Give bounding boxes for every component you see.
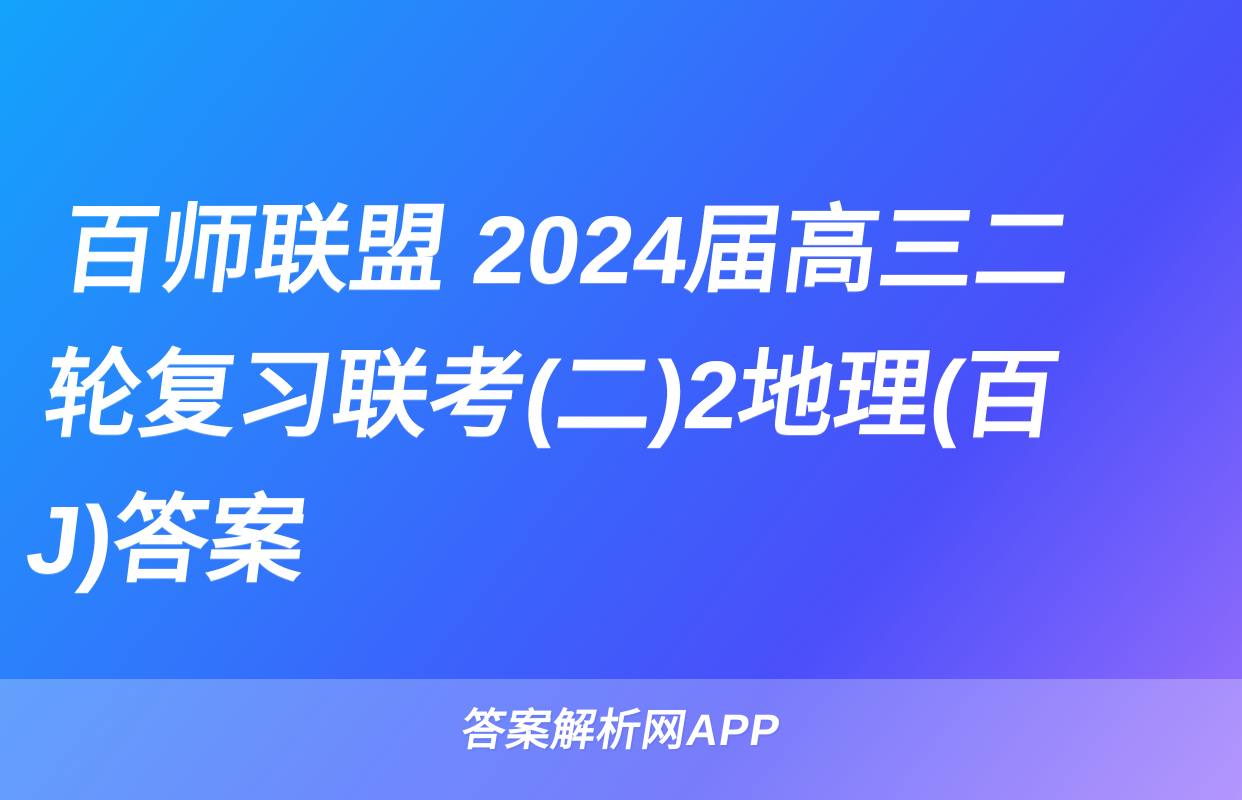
answer-poster-card: 百师联盟 2024届高三二轮复习联考(二)2地理(百J)答案 答案解析网APP xyxy=(0,0,1242,800)
page-title: 百师联盟 2024届高三二轮复习联考(二)2地理(百J)答案 xyxy=(19,178,1170,613)
app-watermark-label: 答案解析网APP xyxy=(0,705,1242,757)
poster-title-block: 百师联盟 2024届高三二轮复习联考(二)2地理(百J)答案 xyxy=(72,178,1170,613)
